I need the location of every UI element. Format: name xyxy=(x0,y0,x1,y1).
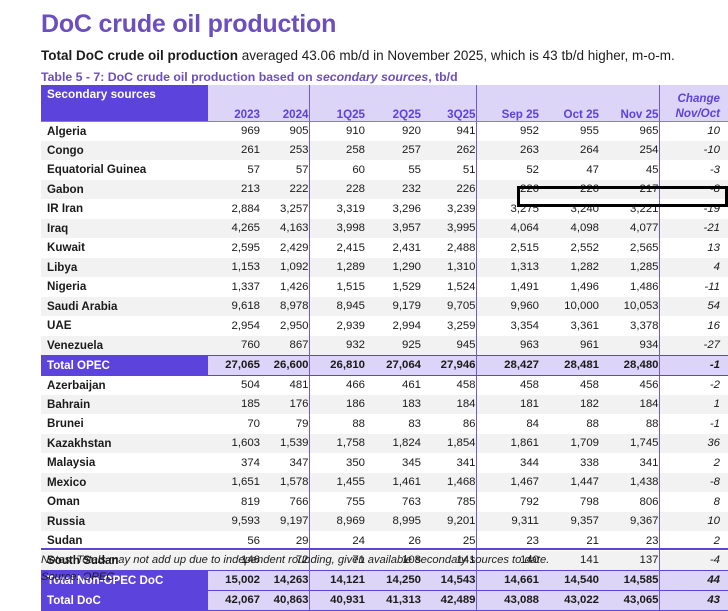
cell-2q25: 83 xyxy=(365,414,421,434)
cell-3q25: 42,489 xyxy=(421,590,476,610)
cell-2023: 185 xyxy=(208,395,260,415)
cell-nov-25: 28,480 xyxy=(599,355,659,375)
cell-change: 36 xyxy=(659,434,728,454)
cell-oct-25: 961 xyxy=(539,336,599,356)
row-label: Brunei xyxy=(41,414,208,434)
cell-2024: 176 xyxy=(260,395,309,415)
cell-nov-25: 3,221 xyxy=(599,199,659,219)
cell-2q25: 27,064 xyxy=(365,355,421,375)
cell-nov-25: 14,585 xyxy=(599,570,659,590)
cell-change: -27 xyxy=(659,336,728,356)
cell-oct-25: 798 xyxy=(539,492,599,512)
cell-sep-25: 963 xyxy=(476,336,539,356)
cell-change: 10 xyxy=(659,512,728,532)
cell-nov-25: 3,378 xyxy=(599,316,659,336)
cell-2024: 905 xyxy=(260,121,309,141)
table-row: UAE2,9542,9502,9392,9943,2593,3543,3613,… xyxy=(41,316,728,336)
cell-3q25: 3,239 xyxy=(421,199,476,219)
cell-2024: 1,539 xyxy=(260,434,309,454)
table-caption: Table 5 - 7: DoC crude oil production ba… xyxy=(41,70,458,84)
cell-1q25: 2,939 xyxy=(309,316,365,336)
row-label: Malaysia xyxy=(41,453,208,473)
cell-oct-25: 264 xyxy=(539,141,599,161)
cell-2024: 26,600 xyxy=(260,355,309,375)
cell-1q25: 1,515 xyxy=(309,277,365,297)
cell-2q25: 1,824 xyxy=(365,434,421,454)
cell-2024: 222 xyxy=(260,180,309,200)
cell-3q25: 3,995 xyxy=(421,219,476,239)
cell-1q25: 186 xyxy=(309,395,365,415)
cell-2024: 347 xyxy=(260,453,309,473)
cell-1q25: 1,758 xyxy=(309,434,365,454)
cell-sep-25: 1,467 xyxy=(476,473,539,493)
cell-sep-25: 43,088 xyxy=(476,590,539,610)
cell-sep-25: 792 xyxy=(476,492,539,512)
cell-3q25: 9,705 xyxy=(421,297,476,317)
table-row: Bahrain1851761861831841811821841 xyxy=(41,395,728,415)
cell-sep-25: 9,311 xyxy=(476,512,539,532)
cell-2023: 819 xyxy=(208,492,260,512)
cell-2024: 1,578 xyxy=(260,473,309,493)
cell-change: 13 xyxy=(659,238,728,258)
cell-3q25: 945 xyxy=(421,336,476,356)
table-row: Russia9,5939,1978,9698,9959,2019,3119,35… xyxy=(41,512,728,532)
caption-pre: Table 5 - 7: DoC crude oil production ba… xyxy=(41,70,316,84)
cell-2024: 14,263 xyxy=(260,570,309,590)
header-col-2023: 2023 xyxy=(208,85,260,121)
cell-change: -21 xyxy=(659,219,728,239)
table-row: Kazakhstan1,6031,5391,7581,8241,8541,861… xyxy=(41,434,728,454)
cell-3q25: 14,543 xyxy=(421,570,476,590)
cell-3q25: 1,854 xyxy=(421,434,476,454)
cell-2q25: 14,250 xyxy=(365,570,421,590)
cell-1q25: 1,455 xyxy=(309,473,365,493)
header-col-sep25: Sep 25 xyxy=(476,85,539,121)
table-row: Iraq4,2654,1633,9983,9573,9954,0644,0984… xyxy=(41,219,728,239)
row-label: UAE xyxy=(41,316,208,336)
cell-2024: 867 xyxy=(260,336,309,356)
header-col-2024: 2024 xyxy=(260,85,309,121)
row-label: Russia xyxy=(41,512,208,532)
cell-2q25: 232 xyxy=(365,180,421,200)
cell-1q25: 40,931 xyxy=(309,590,365,610)
table-row: Gabon213222228232226226226217-8 xyxy=(41,180,728,200)
cell-2q25: 2,431 xyxy=(365,238,421,258)
cell-change: -10 xyxy=(659,141,728,161)
cell-oct-25: 2,552 xyxy=(539,238,599,258)
table-body: Algeria96990591092094195295596510Congo26… xyxy=(41,121,728,610)
cell-2023: 213 xyxy=(208,180,260,200)
cell-sep-25: 84 xyxy=(476,414,539,434)
cell-3q25: 1,310 xyxy=(421,258,476,278)
cell-nov-25: 217 xyxy=(599,180,659,200)
cell-nov-25: 341 xyxy=(599,453,659,473)
cell-3q25: 1,468 xyxy=(421,473,476,493)
cell-sep-25: 14,661 xyxy=(476,570,539,590)
cell-3q25: 226 xyxy=(421,180,476,200)
cell-change: 54 xyxy=(659,297,728,317)
cell-nov-25: 137 xyxy=(599,551,659,571)
cell-1q25: 1,289 xyxy=(309,258,365,278)
cell-2024: 1,426 xyxy=(260,277,309,297)
cell-1q25: 2,415 xyxy=(309,238,365,258)
cell-change: 10 xyxy=(659,121,728,141)
caption-post: , tb/d xyxy=(428,70,457,84)
row-label: Total DoC xyxy=(41,590,208,610)
cell-nov-25: 806 xyxy=(599,492,659,512)
table-row: Nigeria1,3371,4261,5151,5291,5241,4911,4… xyxy=(41,277,728,297)
row-label: IR Iran xyxy=(41,199,208,219)
cell-2q25: 257 xyxy=(365,141,421,161)
cell-2q25: 763 xyxy=(365,492,421,512)
cell-oct-25: 43,022 xyxy=(539,590,599,610)
cell-1q25: 8,969 xyxy=(309,512,365,532)
cell-1q25: 14,121 xyxy=(309,570,365,590)
cell-1q25: 8,945 xyxy=(309,297,365,317)
cell-change: -1 xyxy=(659,355,728,375)
cell-oct-25: 1,282 xyxy=(539,258,599,278)
cell-2q25: 55 xyxy=(365,160,421,180)
cell-2023: 1,651 xyxy=(208,473,260,493)
cell-2023: 504 xyxy=(208,375,260,395)
cell-sep-25: 952 xyxy=(476,121,539,141)
cell-2023: 57 xyxy=(208,160,260,180)
cell-3q25: 341 xyxy=(421,453,476,473)
cell-oct-25: 88 xyxy=(539,414,599,434)
cell-2023: 15,002 xyxy=(208,570,260,590)
table-header: Secondary sources 2023 2024 1Q25 2Q25 3Q… xyxy=(41,85,728,121)
cell-2023: 760 xyxy=(208,336,260,356)
cell-3q25: 86 xyxy=(421,414,476,434)
cell-2023: 9,593 xyxy=(208,512,260,532)
header-col-change: Change Nov/Oct xyxy=(659,85,728,121)
table-row: Total DoC42,06740,86340,93141,31342,4894… xyxy=(41,590,728,610)
cell-nov-25: 1,745 xyxy=(599,434,659,454)
cell-2q25: 8,995 xyxy=(365,512,421,532)
table-row: Venezuela760867932925945963961934-27 xyxy=(41,336,728,356)
cell-nov-25: 965 xyxy=(599,121,659,141)
row-label: Venezuela xyxy=(41,336,208,356)
cell-1q25: 755 xyxy=(309,492,365,512)
cell-change: -8 xyxy=(659,180,728,200)
cell-sep-25: 28,427 xyxy=(476,355,539,375)
cell-oct-25: 14,540 xyxy=(539,570,599,590)
header-col-1q25: 1Q25 xyxy=(309,85,365,121)
cell-2q25: 925 xyxy=(365,336,421,356)
cell-change: 4 xyxy=(659,258,728,278)
cell-2023: 4,265 xyxy=(208,219,260,239)
header-col-oct25: Oct 25 xyxy=(539,85,599,121)
header-change-line1: Change xyxy=(660,91,721,106)
cell-2023: 2,954 xyxy=(208,316,260,336)
cell-sep-25: 263 xyxy=(476,141,539,161)
cell-change: -8 xyxy=(659,473,728,493)
cell-oct-25: 47 xyxy=(539,160,599,180)
cell-1q25: 932 xyxy=(309,336,365,356)
row-label: Kuwait xyxy=(41,238,208,258)
cell-nov-25: 88 xyxy=(599,414,659,434)
cell-2024: 8,978 xyxy=(260,297,309,317)
row-label: Azerbaijan xyxy=(41,375,208,395)
cell-sep-25: 1,313 xyxy=(476,258,539,278)
cell-3q25: 941 xyxy=(421,121,476,141)
cell-2024: 1,092 xyxy=(260,258,309,278)
row-label: Equatorial Guinea xyxy=(41,160,208,180)
cell-oct-25: 28,481 xyxy=(539,355,599,375)
table-row: Brunei7079888386848888-1 xyxy=(41,414,728,434)
cell-nov-25: 254 xyxy=(599,141,659,161)
cell-oct-25: 3,240 xyxy=(539,199,599,219)
cell-change: -19 xyxy=(659,199,728,219)
table-row: Total Non-OPEC DoC15,00214,26314,12114,2… xyxy=(41,570,728,590)
header-col-2q25: 2Q25 xyxy=(365,85,421,121)
cell-nov-25: 9,367 xyxy=(599,512,659,532)
cell-nov-25: 2,565 xyxy=(599,238,659,258)
cell-2023: 27,065 xyxy=(208,355,260,375)
cell-2q25: 41,313 xyxy=(365,590,421,610)
report-page: DoC crude oil production Total DoC crude… xyxy=(0,0,728,591)
row-label: Saudi Arabia xyxy=(41,297,208,317)
cell-2023: 42,067 xyxy=(208,590,260,610)
cell-1q25: 258 xyxy=(309,141,365,161)
cell-2024: 9,197 xyxy=(260,512,309,532)
cell-oct-25: 226 xyxy=(539,180,599,200)
row-label: Congo xyxy=(41,141,208,161)
cell-2024: 4,163 xyxy=(260,219,309,239)
cell-sep-25: 226 xyxy=(476,180,539,200)
cell-2024: 2,429 xyxy=(260,238,309,258)
production-table: Secondary sources 2023 2024 1Q25 2Q25 3Q… xyxy=(41,85,728,611)
cell-2024: 3,257 xyxy=(260,199,309,219)
cell-nov-25: 10,053 xyxy=(599,297,659,317)
cell-2024: 2,950 xyxy=(260,316,309,336)
table-row: Algeria96990591092094195295596510 xyxy=(41,121,728,141)
cell-change: -4 xyxy=(659,551,728,571)
table-row: Mexico1,6511,5781,4551,4611,4681,4671,44… xyxy=(41,473,728,493)
row-label: Oman xyxy=(41,492,208,512)
cell-oct-25: 4,098 xyxy=(539,219,599,239)
cell-change: -11 xyxy=(659,277,728,297)
cell-1q25: 910 xyxy=(309,121,365,141)
lead-rest-text: averaged 43.06 mb/d in November 2025, wh… xyxy=(238,48,675,63)
table-row: Azerbaijan504481466461458458458456-2 xyxy=(41,375,728,395)
header-secondary-sources: Secondary sources xyxy=(41,85,208,121)
cell-sep-25: 344 xyxy=(476,453,539,473)
cell-2023: 70 xyxy=(208,414,260,434)
cell-change: -2 xyxy=(659,375,728,395)
cell-2023: 2,595 xyxy=(208,238,260,258)
table-notes: Notes: Totals may not add up due to inde… xyxy=(41,554,549,566)
cell-nov-25: 1,486 xyxy=(599,277,659,297)
cell-oct-25: 955 xyxy=(539,121,599,141)
caption-italic: secondary sources xyxy=(316,70,428,84)
cell-nov-25: 1,285 xyxy=(599,258,659,278)
cell-2q25: 345 xyxy=(365,453,421,473)
cell-3q25: 458 xyxy=(421,375,476,395)
header-secondary-sources-line2: sources xyxy=(111,87,156,101)
cell-3q25: 2,488 xyxy=(421,238,476,258)
cell-change: 16 xyxy=(659,316,728,336)
table-row: IR Iran2,8843,2573,3193,2963,2393,2753,2… xyxy=(41,199,728,219)
cell-sep-25: 52 xyxy=(476,160,539,180)
cell-2q25: 3,957 xyxy=(365,219,421,239)
cell-2023: 969 xyxy=(208,121,260,141)
cell-2024: 57 xyxy=(260,160,309,180)
cell-sep-25: 458 xyxy=(476,375,539,395)
row-label: Gabon xyxy=(41,180,208,200)
cell-oct-25: 9,357 xyxy=(539,512,599,532)
cell-nov-25: 934 xyxy=(599,336,659,356)
cell-sep-25: 181 xyxy=(476,395,539,415)
cell-sep-25: 1,861 xyxy=(476,434,539,454)
cell-2q25: 1,529 xyxy=(365,277,421,297)
header-change-line2: Nov/Oct xyxy=(660,106,721,121)
table-bottom-rule xyxy=(41,548,728,550)
cell-change: 44 xyxy=(659,570,728,590)
cell-3q25: 51 xyxy=(421,160,476,180)
row-label: Libya xyxy=(41,258,208,278)
cell-2024: 79 xyxy=(260,414,309,434)
table-row: Oman8197667557637857927988068 xyxy=(41,492,728,512)
cell-nov-25: 43,065 xyxy=(599,590,659,610)
cell-change: 1 xyxy=(659,395,728,415)
cell-3q25: 3,259 xyxy=(421,316,476,336)
cell-oct-25: 458 xyxy=(539,375,599,395)
cell-oct-25: 1,447 xyxy=(539,473,599,493)
cell-1q25: 3,998 xyxy=(309,219,365,239)
cell-change: 43 xyxy=(659,590,728,610)
cell-2q25: 2,994 xyxy=(365,316,421,336)
cell-oct-25: 338 xyxy=(539,453,599,473)
cell-1q25: 350 xyxy=(309,453,365,473)
cell-2q25: 920 xyxy=(365,121,421,141)
table-row: Equatorial Guinea5757605551524745-3 xyxy=(41,160,728,180)
cell-2023: 2,884 xyxy=(208,199,260,219)
cell-change: -3 xyxy=(659,160,728,180)
cell-change: 2 xyxy=(659,453,728,473)
cell-2q25: 183 xyxy=(365,395,421,415)
cell-nov-25: 4,077 xyxy=(599,219,659,239)
cell-2024: 40,863 xyxy=(260,590,309,610)
cell-1q25: 60 xyxy=(309,160,365,180)
header-col-3q25: 3Q25 xyxy=(421,85,476,121)
cell-3q25: 1,524 xyxy=(421,277,476,297)
lead-bold-text: Total DoC crude oil production xyxy=(41,48,238,63)
table-row: Kuwait2,5952,4292,4152,4312,4882,5152,55… xyxy=(41,238,728,258)
cell-1q25: 88 xyxy=(309,414,365,434)
table-row: Libya1,1531,0921,2891,2901,3101,3131,282… xyxy=(41,258,728,278)
cell-2023: 261 xyxy=(208,141,260,161)
cell-2023: 1,337 xyxy=(208,277,260,297)
cell-2023: 1,153 xyxy=(208,258,260,278)
cell-sep-25: 3,275 xyxy=(476,199,539,219)
header-secondary-sources-line1: Secondary xyxy=(47,87,107,101)
table-row: Congo261253258257262263264254-10 xyxy=(41,141,728,161)
cell-2023: 374 xyxy=(208,453,260,473)
lead-paragraph: Total DoC crude oil production averaged … xyxy=(41,48,675,63)
production-table-wrapper: Secondary sources 2023 2024 1Q25 2Q25 3Q… xyxy=(41,85,728,611)
cell-2q25: 461 xyxy=(365,375,421,395)
cell-nov-25: 1,438 xyxy=(599,473,659,493)
cell-2024: 253 xyxy=(260,141,309,161)
cell-2q25: 1,461 xyxy=(365,473,421,493)
cell-oct-25: 1,496 xyxy=(539,277,599,297)
row-label: Algeria xyxy=(41,121,208,141)
cell-2q25: 9,179 xyxy=(365,297,421,317)
cell-oct-25: 1,709 xyxy=(539,434,599,454)
row-label: Bahrain xyxy=(41,395,208,415)
cell-sep-25: 3,354 xyxy=(476,316,539,336)
cell-2024: 481 xyxy=(260,375,309,395)
cell-oct-25: 182 xyxy=(539,395,599,415)
cell-3q25: 262 xyxy=(421,141,476,161)
cell-2023: 1,603 xyxy=(208,434,260,454)
table-source: Source: OPEC. xyxy=(41,571,117,583)
cell-1q25: 26,810 xyxy=(309,355,365,375)
cell-2q25: 3,296 xyxy=(365,199,421,219)
cell-3q25: 184 xyxy=(421,395,476,415)
cell-3q25: 785 xyxy=(421,492,476,512)
cell-2023: 9,618 xyxy=(208,297,260,317)
cell-sep-25: 1,491 xyxy=(476,277,539,297)
cell-nov-25: 45 xyxy=(599,160,659,180)
cell-2024: 766 xyxy=(260,492,309,512)
cell-nov-25: 184 xyxy=(599,395,659,415)
table-row: Malaysia3743473503453413443383412 xyxy=(41,453,728,473)
cell-1q25: 466 xyxy=(309,375,365,395)
cell-1q25: 3,319 xyxy=(309,199,365,219)
cell-sep-25: 9,960 xyxy=(476,297,539,317)
cell-1q25: 228 xyxy=(309,180,365,200)
row-label: Iraq xyxy=(41,219,208,239)
row-label: Total OPEC xyxy=(41,355,208,375)
cell-change: 8 xyxy=(659,492,728,512)
page-title: DoC crude oil production xyxy=(41,10,336,39)
table-header-row: Secondary sources 2023 2024 1Q25 2Q25 3Q… xyxy=(41,85,728,121)
cell-3q25: 27,946 xyxy=(421,355,476,375)
cell-oct-25: 10,000 xyxy=(539,297,599,317)
table-row: Saudi Arabia9,6188,9788,9459,1799,7059,9… xyxy=(41,297,728,317)
cell-3q25: 9,201 xyxy=(421,512,476,532)
cell-oct-25: 3,361 xyxy=(539,316,599,336)
cell-sep-25: 2,515 xyxy=(476,238,539,258)
table-row: Total OPEC27,06526,60026,81027,06427,946… xyxy=(41,355,728,375)
cell-change: -1 xyxy=(659,414,728,434)
row-label: Kazakhstan xyxy=(41,434,208,454)
cell-2q25: 1,290 xyxy=(365,258,421,278)
header-col-nov25: Nov 25 xyxy=(599,85,659,121)
cell-sep-25: 4,064 xyxy=(476,219,539,239)
cell-nov-25: 456 xyxy=(599,375,659,395)
row-label: Mexico xyxy=(41,473,208,493)
row-label: Nigeria xyxy=(41,277,208,297)
